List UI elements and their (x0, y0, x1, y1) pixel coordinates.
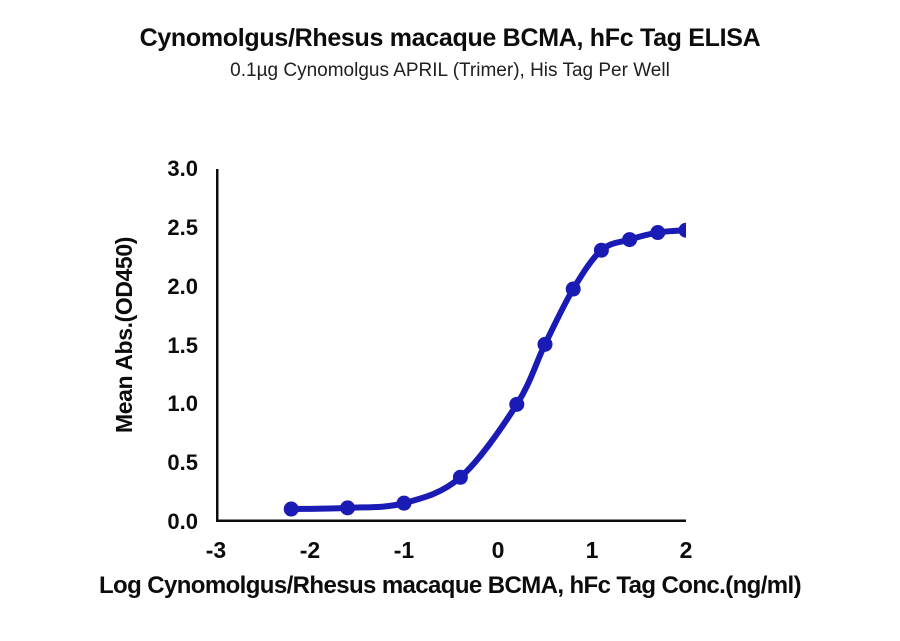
data-point-marker (340, 500, 355, 515)
x-tick-label: 1 (570, 539, 614, 562)
axis-spines (216, 169, 686, 522)
data-point-marker (650, 225, 665, 240)
chart-title: Cynomolgus/Rhesus macaque BCMA, hFc Tag … (0, 24, 900, 53)
x-tick-label: 0 (476, 539, 520, 562)
data-point-marker (538, 337, 553, 352)
data-point-marker (453, 470, 468, 485)
y-tick-label: 0.5 (142, 452, 198, 474)
y-tick-label: 0.0 (142, 511, 198, 533)
data-point-marker (397, 496, 412, 511)
y-tick-label: 2.0 (142, 276, 198, 298)
series-markers (284, 223, 686, 517)
y-tick-label: 3.0 (142, 158, 198, 180)
data-point-marker (679, 223, 687, 238)
chart-figure: Cynomolgus/Rhesus macaque BCMA, hFc Tag … (0, 0, 900, 641)
data-point-marker (594, 243, 609, 258)
data-point-marker (566, 282, 581, 297)
x-tick-label: -1 (382, 539, 426, 562)
y-tick-label: 1.0 (142, 393, 198, 415)
x-axis-title: Log Cynomolgus/Rhesus macaque BCMA, hFc … (0, 572, 900, 600)
y-tick-label: 2.5 (142, 217, 198, 239)
data-point-marker (509, 397, 524, 412)
data-point-marker (622, 232, 637, 247)
title-block: Cynomolgus/Rhesus macaque BCMA, hFc Tag … (0, 24, 900, 82)
plot-area (216, 169, 686, 522)
chart-subtitle: 0.1µg Cynomolgus APRIL (Trimer), His Tag… (0, 60, 900, 82)
x-tick-label: -3 (194, 539, 238, 562)
data-point-marker (284, 502, 299, 517)
x-tick-label: -2 (288, 539, 332, 562)
y-axis-title: Mean Abs.(OD450) (111, 175, 141, 495)
plot-svg (216, 169, 686, 522)
series-curve (291, 230, 686, 509)
x-tick-label: 2 (664, 539, 708, 562)
y-tick-label: 1.5 (142, 335, 198, 357)
